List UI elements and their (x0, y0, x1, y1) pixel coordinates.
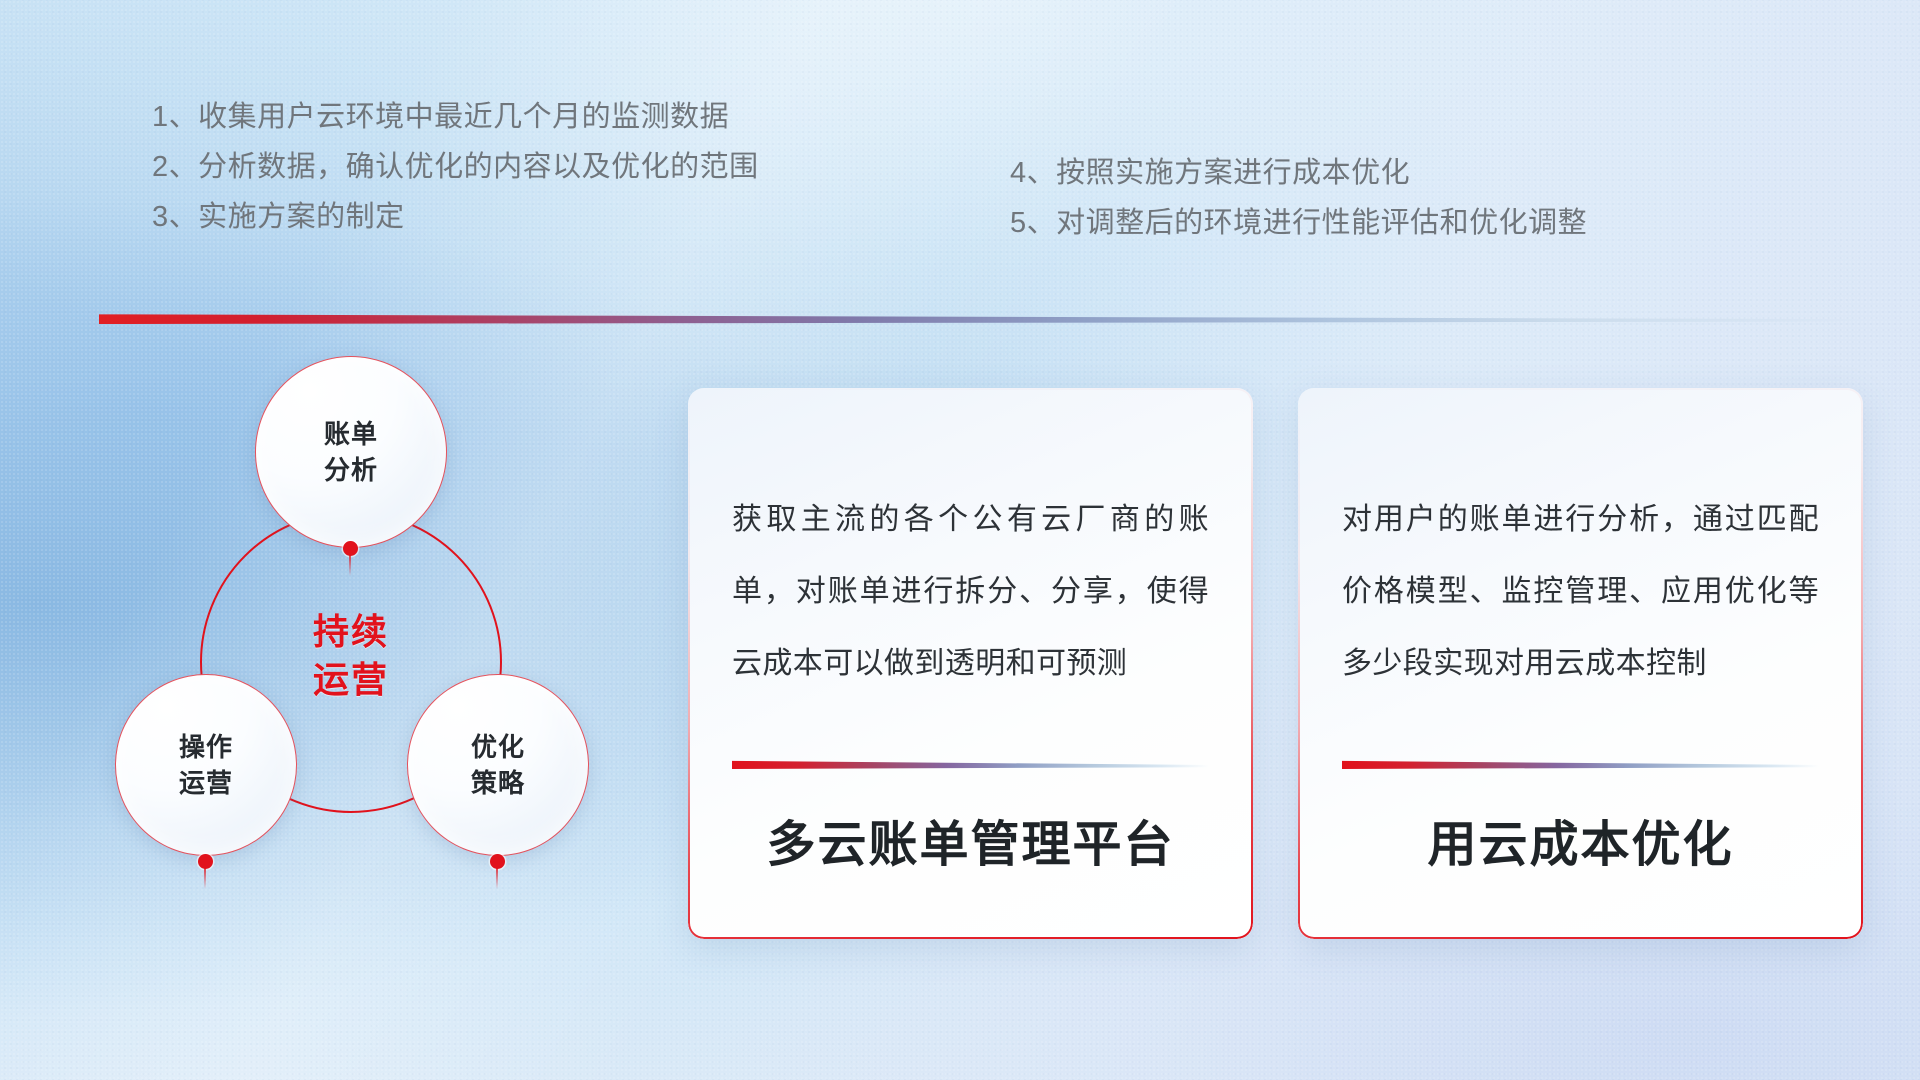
continuous-operation-diagram: 持续 运营 账单 分析 操作 运营 优化 策略 (95, 356, 655, 956)
diagram-center-label: 持续 运营 (200, 608, 502, 704)
diagram-bubble-billing-analysis[interactable]: 账单 分析 (255, 356, 447, 548)
info-card-title: 多云账单管理平台 (732, 815, 1209, 875)
info-card-rule-wedge (732, 760, 1209, 769)
section-divider-wedge (99, 313, 1861, 324)
step-item-5: 5、对调整后的环境进行性能评估和优化调整 (1010, 198, 1587, 248)
info-card-rule (1342, 760, 1819, 769)
info-card-title: 用云成本优化 (1342, 815, 1819, 875)
diagram-bubble-label: 优化 策略 (471, 729, 525, 801)
info-card-body: 获取主流的各个公有云厂商的账单，对账单进行拆分、分享，使得云成本可以做到透明和可… (732, 484, 1209, 700)
info-card-inner: 对用户的账单进行分析，通过匹配价格模型、监控管理、应用优化等多少段实现对用云成本… (1298, 388, 1863, 939)
diagram-node-dot-right (490, 854, 505, 869)
steps-list-right: 4、按照实施方案进行成本优化 5、对调整后的环境进行性能评估和优化调整 (1010, 148, 1587, 248)
steps-list-left: 1、收集用户云环境中最近几个月的监测数据 2、分析数据，确认优化的内容以及优化的… (152, 92, 759, 242)
step-item-2: 2、分析数据，确认优化的内容以及优化的范围 (152, 142, 759, 192)
section-divider (99, 313, 1861, 324)
step-item-1: 1、收集用户云环境中最近几个月的监测数据 (152, 92, 759, 142)
info-card-body: 对用户的账单进行分析，通过匹配价格模型、监控管理、应用优化等多少段实现对用云成本… (1342, 484, 1819, 700)
diagram-bubble-label: 操作 运营 (179, 729, 233, 801)
info-card-rule (732, 760, 1209, 769)
step-item-4: 4、按照实施方案进行成本优化 (1010, 148, 1587, 198)
diagram-node-dot-left (198, 854, 213, 869)
info-card-inner: 获取主流的各个公有云厂商的账单，对账单进行拆分、分享，使得云成本可以做到透明和可… (688, 388, 1253, 939)
diagram-node-dot-top (343, 541, 358, 556)
step-item-3: 3、实施方案的制定 (152, 192, 759, 242)
diagram-bubble-label: 账单 分析 (324, 416, 378, 488)
info-card-cloud-cost-optimization[interactable]: 对用户的账单进行分析，通过匹配价格模型、监控管理、应用优化等多少段实现对用云成本… (1298, 388, 1863, 939)
info-card-rule-wedge (1342, 760, 1819, 769)
info-card-multicloud-billing[interactable]: 获取主流的各个公有云厂商的账单，对账单进行拆分、分享，使得云成本可以做到透明和可… (688, 388, 1253, 939)
